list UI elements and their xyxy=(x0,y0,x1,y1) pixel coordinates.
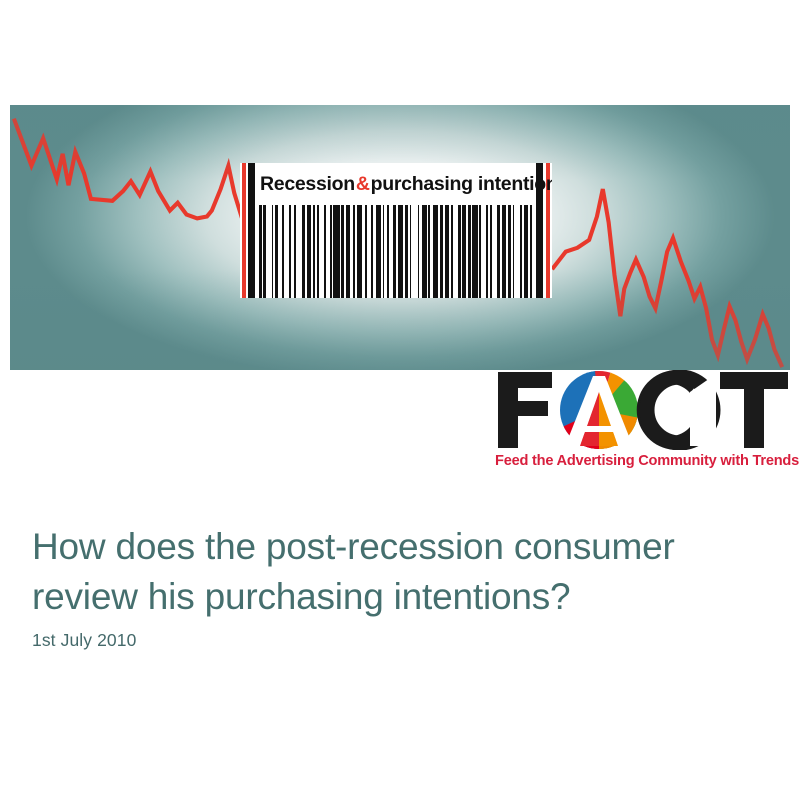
barcode-left-guard-bar xyxy=(248,163,255,298)
page-title: How does the post-recession consumer rev… xyxy=(32,522,762,622)
trend-line-left xyxy=(14,119,252,258)
presentation-date: 1st July 2010 xyxy=(32,630,136,651)
logo-letter-t xyxy=(720,372,788,448)
logo-letter-f xyxy=(498,372,552,448)
page-title-line-1: How does the post-recession consumer xyxy=(32,522,762,572)
barcode-caption: Recession & purchasing intention xyxy=(260,166,532,202)
barcode-caption-part2: purchasing intention xyxy=(371,173,552,196)
presentation-title-slide: Recession & purchasing intention xyxy=(0,0,800,800)
barcode-left-red-line xyxy=(242,163,246,298)
barcode-graphic: Recession & purchasing intention xyxy=(240,163,552,298)
barcode-caption-part1: Recession xyxy=(260,173,355,196)
barcode-bar xyxy=(530,205,533,298)
logo-letter-a-wheel xyxy=(560,371,640,449)
page-title-line-2: review his purchasing intentions? xyxy=(32,572,762,622)
barcode-bars xyxy=(259,205,532,298)
fact-logo-tagline: Feed the Advertising Community with Tren… xyxy=(495,453,793,469)
fact-logo-mark xyxy=(494,370,792,450)
trend-line-right xyxy=(552,189,782,367)
fact-logo: Feed the Advertising Community with Tren… xyxy=(494,370,792,478)
barcode-caption-ampersand: & xyxy=(355,173,371,196)
